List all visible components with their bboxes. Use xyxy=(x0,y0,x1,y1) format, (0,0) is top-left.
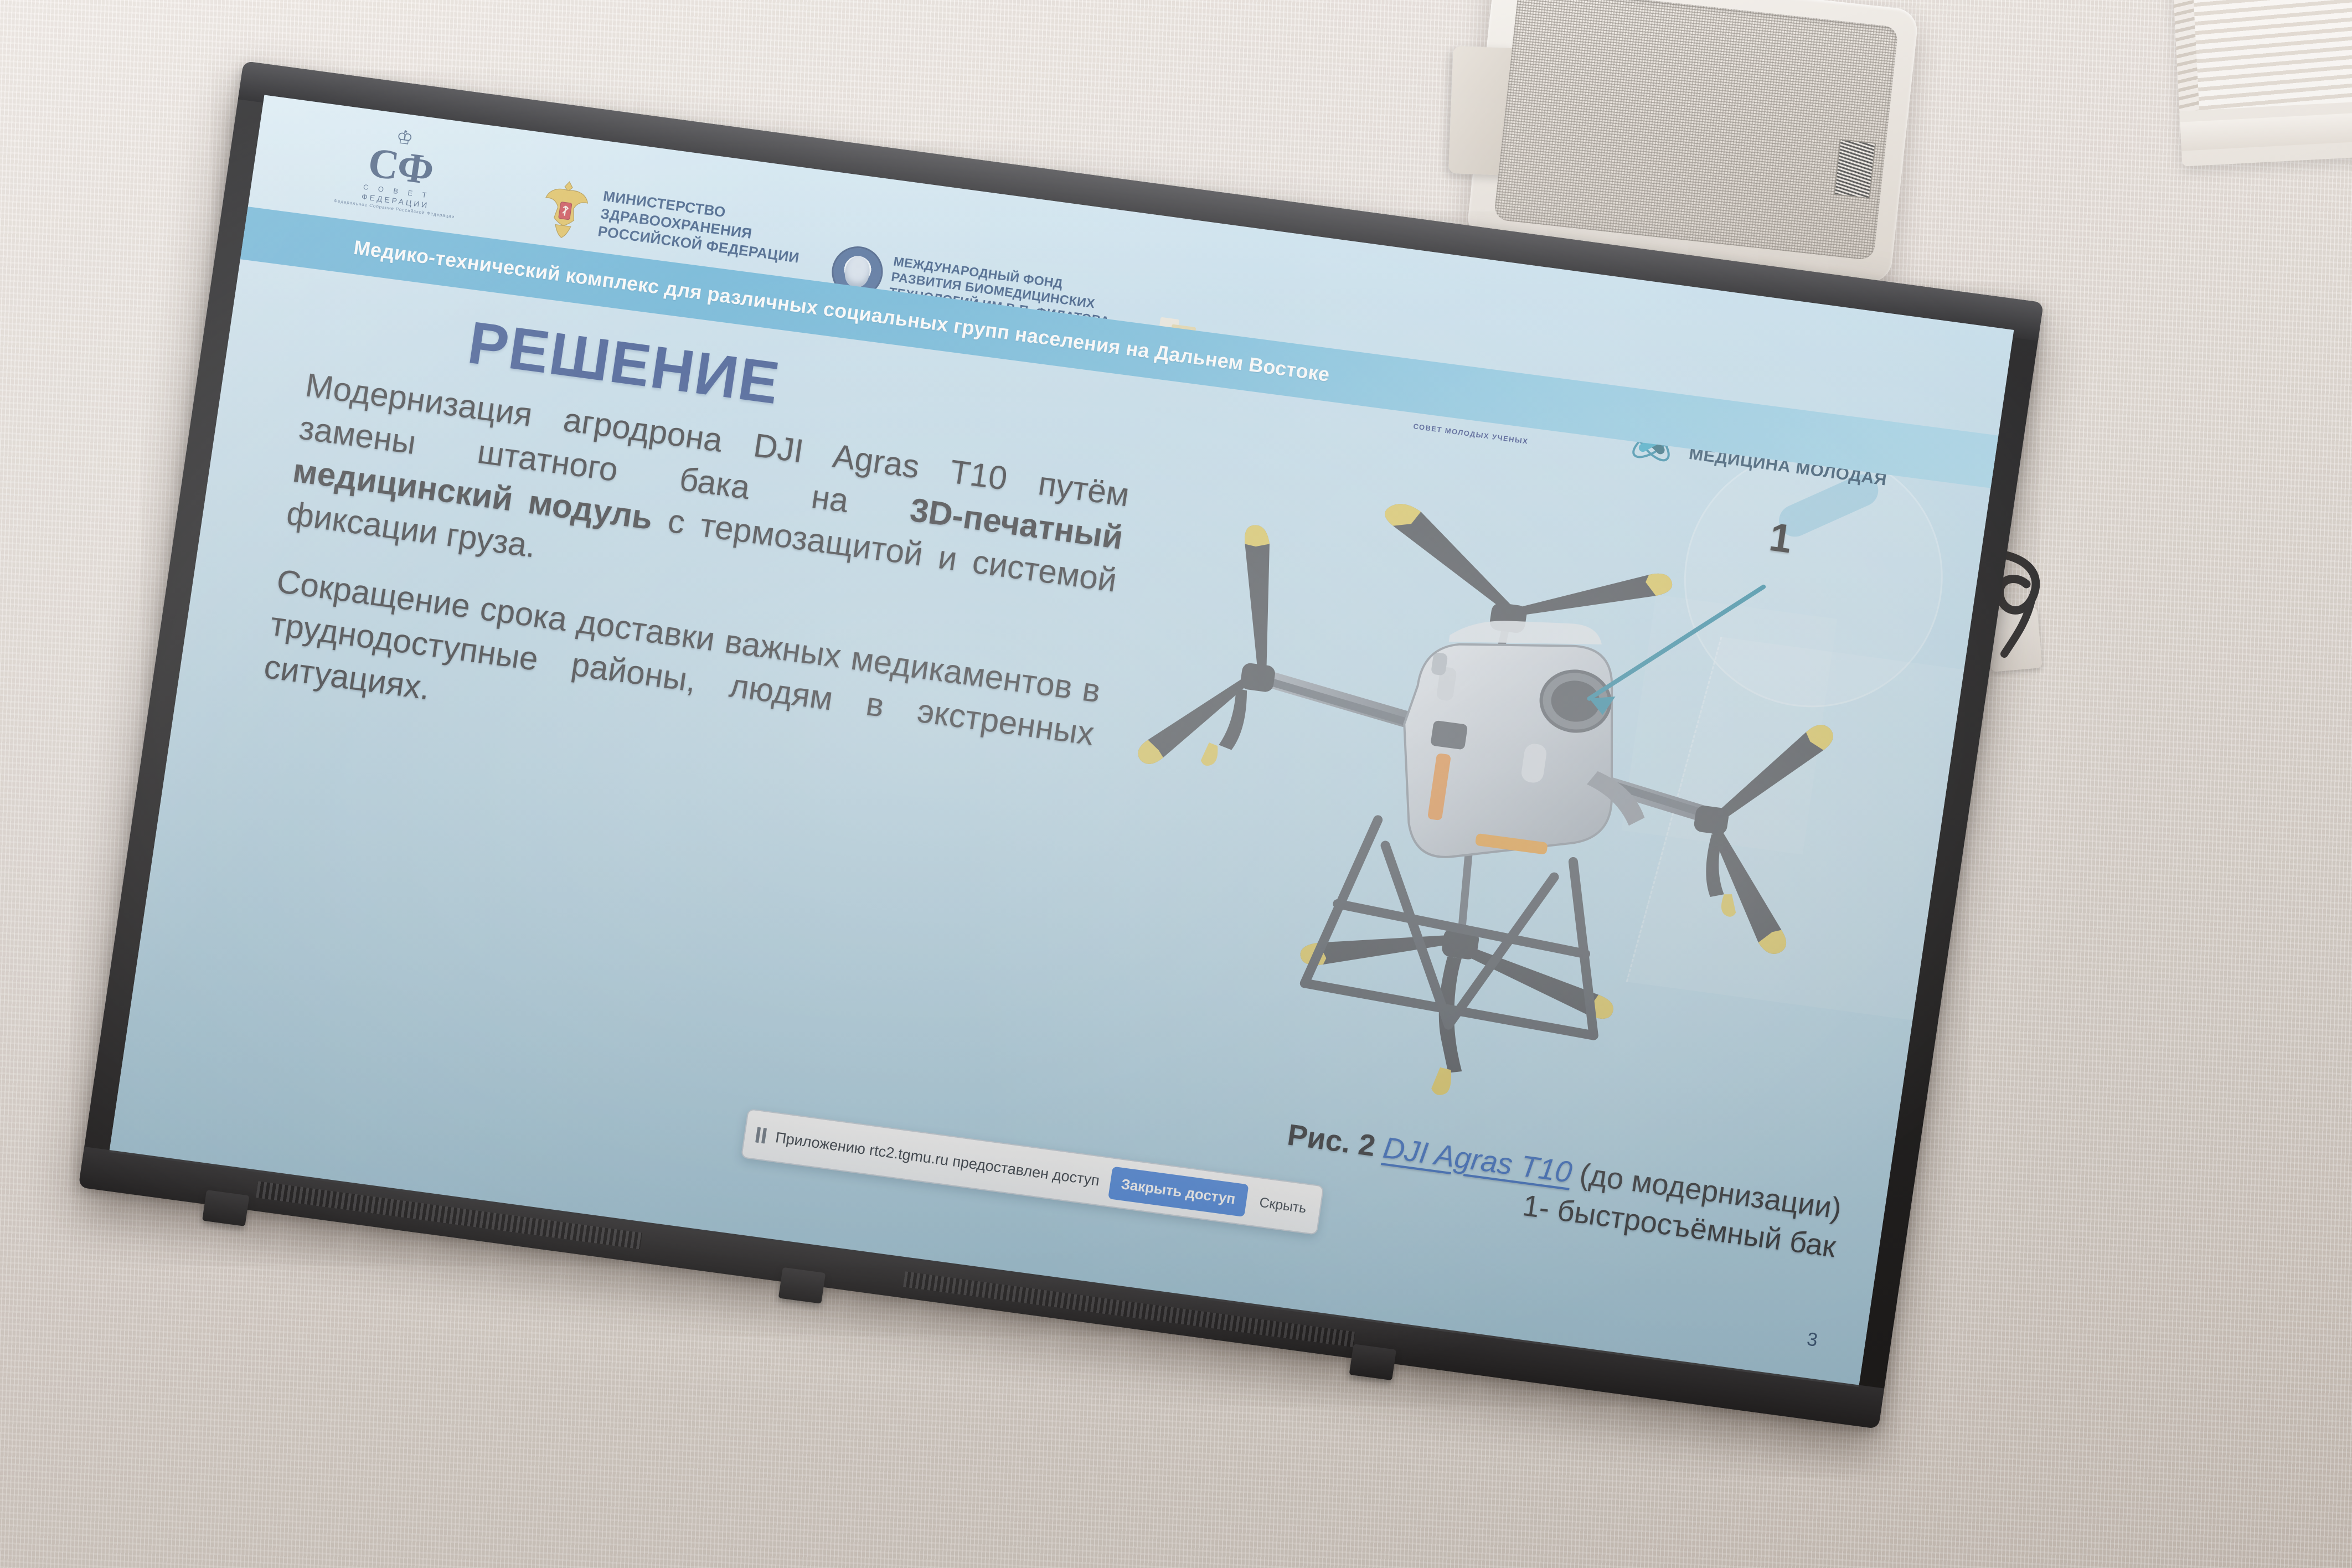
slide-page-number: 3 xyxy=(1806,1329,1819,1352)
stop-sharing-button[interactable]: Закрыть доступ xyxy=(1108,1166,1249,1216)
wall-mounted-television: ♔ СФ С О В Е Т ФЕДЕРАЦИИ Федеральное Соб… xyxy=(0,0,2352,1568)
tv-wall-mount-bracket xyxy=(778,1267,826,1304)
logo-sf-monogram: СФ xyxy=(366,142,436,190)
ceiling-air-vent: rondo xyxy=(2170,0,2352,167)
tv-wall-mount-bracket xyxy=(202,1190,249,1226)
vent-louvers-front xyxy=(2190,0,2352,110)
vent-lip xyxy=(2180,110,2352,151)
speaker-grille xyxy=(1493,0,1899,261)
logo-council-of-federation: ♔ СФ С О В Е Т ФЕДЕРАЦИИ Федеральное Соб… xyxy=(333,122,466,220)
hide-notification-button[interactable]: Скрыть xyxy=(1255,1193,1311,1218)
pause-icon xyxy=(755,1127,767,1144)
speaker-brand-logo xyxy=(1834,139,1876,199)
tv-wall-mount-bracket xyxy=(1349,1344,1396,1380)
logo-ministry-text: МИНИСТЕРСТВО ЗДРАВООХРАНЕНИЯ РОССИЙСКОЙ … xyxy=(597,188,806,267)
russian-coat-of-arms-icon xyxy=(535,175,596,244)
meeting-room-scene: rondo xyxy=(0,0,2352,1568)
tv-frame: ♔ СФ С О В Е Т ФЕДЕРАЦИИ Федеральное Соб… xyxy=(79,61,2044,1426)
slide-body-text: Модернизация агродрона DJI Agras T10 пут… xyxy=(257,364,1132,824)
drone-illustration: 1 xyxy=(1053,398,1906,1157)
